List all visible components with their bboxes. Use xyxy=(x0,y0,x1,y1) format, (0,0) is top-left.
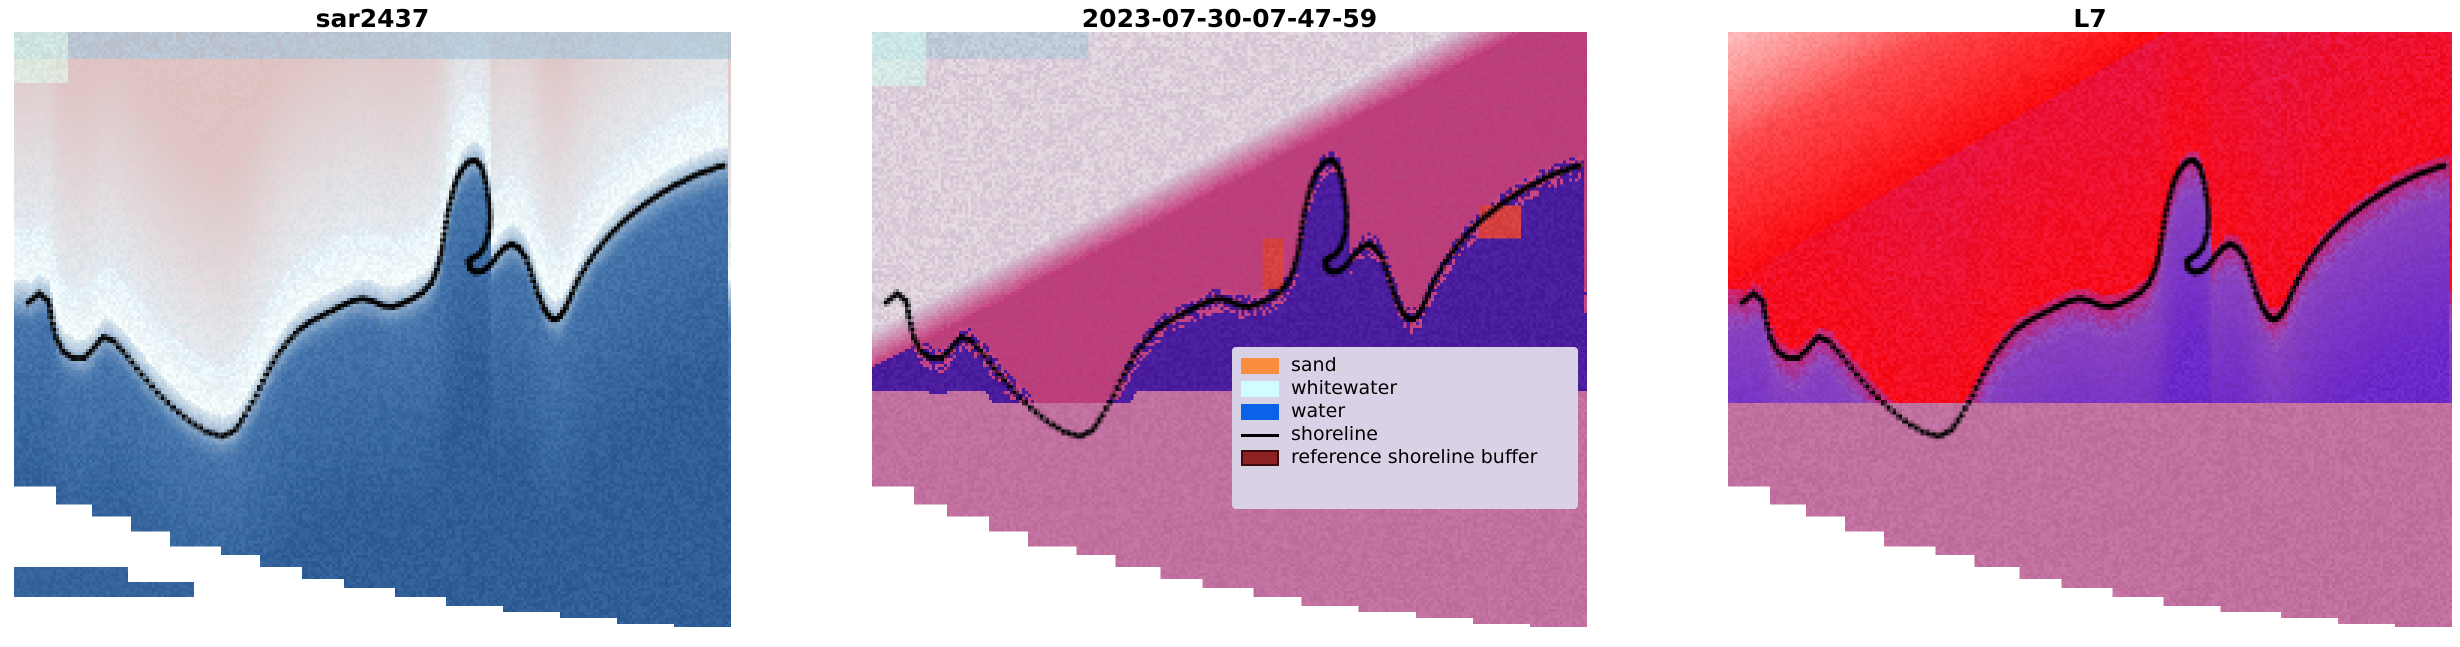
legend-swatch-water xyxy=(1241,404,1279,420)
legend-item-reference-shoreline-buffer: reference shoreline buffer xyxy=(1241,446,1569,469)
panel-title-3: L7 xyxy=(1728,4,2452,34)
shoreline-line-swatch xyxy=(1241,427,1279,443)
legend-swatch-reference-shoreline-buffer xyxy=(1241,450,1279,466)
legend-item-whitewater: whitewater xyxy=(1241,377,1569,400)
legend-label-whitewater: whitewater xyxy=(1291,377,1397,400)
legend-item-water: water xyxy=(1241,400,1569,423)
legend-item-shoreline: shoreline xyxy=(1241,423,1569,446)
image-axes-3[interactable] xyxy=(1728,32,2452,627)
image-axes-2[interactable] xyxy=(872,32,1587,627)
legend-label-reference-shoreline-buffer: reference shoreline buffer xyxy=(1291,446,1537,469)
legend-item-sand: sand xyxy=(1241,354,1569,377)
panel-title-2: 2023-07-30-07-47-59 xyxy=(872,4,1587,34)
legend-label-sand: sand xyxy=(1291,354,1337,377)
legend-swatch-whitewater xyxy=(1241,381,1279,397)
legend-label-shoreline: shoreline xyxy=(1291,423,1378,446)
legend-label-water: water xyxy=(1291,400,1345,423)
falsecolour-image-l7[interactable] xyxy=(1728,32,2452,627)
legend[interactable]: sandwhitewaterwatershorelinereference sh… xyxy=(1232,347,1578,509)
panel-title-1: sar2437 xyxy=(14,4,731,34)
legend-swatch-sand xyxy=(1241,358,1279,374)
classified-image-2023-07-30-07-47-59[interactable] xyxy=(872,32,1587,627)
satellite-image-sar2437[interactable] xyxy=(14,32,731,627)
figure-canvas: sar2437 2023-07-30-07-47-59 sandwhitewat… xyxy=(0,0,2460,647)
image-axes-1[interactable] xyxy=(14,32,731,627)
